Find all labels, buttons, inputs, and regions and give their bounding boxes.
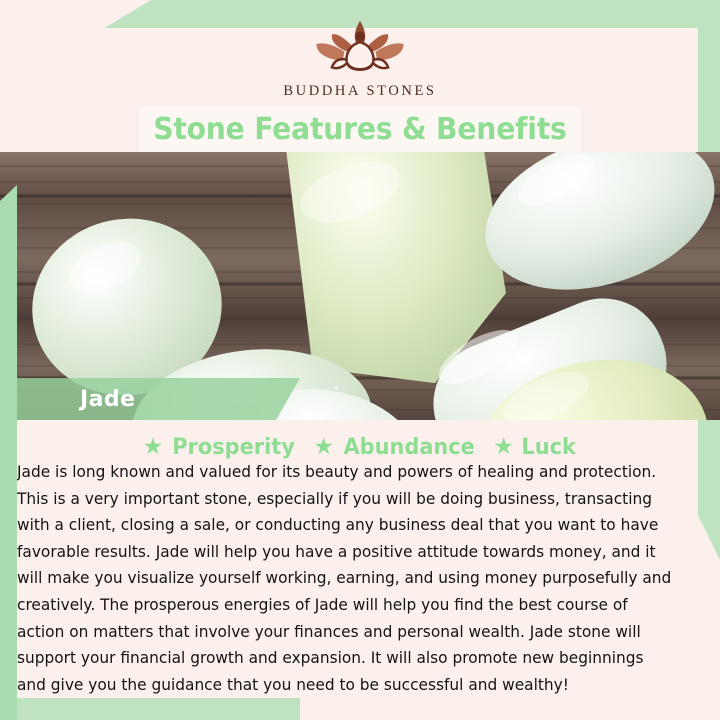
page-title: Stone Features & Benefits — [153, 112, 566, 147]
benefit-label: Prosperity — [173, 435, 296, 460]
brand-logo: BUDDHA STONES — [0, 6, 720, 110]
decorative-bottom-band — [0, 698, 300, 720]
benefit-label: Luck — [521, 435, 575, 460]
title-banner: Stone Features & Benefits — [139, 107, 581, 152]
benefit-label: Abundance — [343, 435, 474, 460]
lotus-meditation-figure-icon — [301, 17, 419, 79]
star-icon: ★ — [493, 435, 514, 458]
benefit-item-abundance: ★ Abundance — [313, 435, 478, 460]
stone-name-band: Jade — [0, 378, 300, 420]
decorative-left-band — [0, 185, 17, 720]
benefits-row: ★ Prosperity ★ Abundance ★ Luck — [0, 432, 720, 462]
star-icon: ★ — [143, 435, 164, 458]
stone-name: Jade — [80, 387, 135, 412]
brand-name: BUDDHA STONES — [283, 83, 436, 100]
infographic-page: BUDDHA STONES Stone Features & Benefits — [0, 0, 720, 720]
description-text: Jade is long known and valued for its be… — [17, 459, 672, 698]
benefit-item-luck: ★ Luck — [493, 435, 577, 460]
star-icon: ★ — [313, 435, 334, 458]
benefit-item-prosperity: ★ Prosperity — [143, 435, 299, 460]
